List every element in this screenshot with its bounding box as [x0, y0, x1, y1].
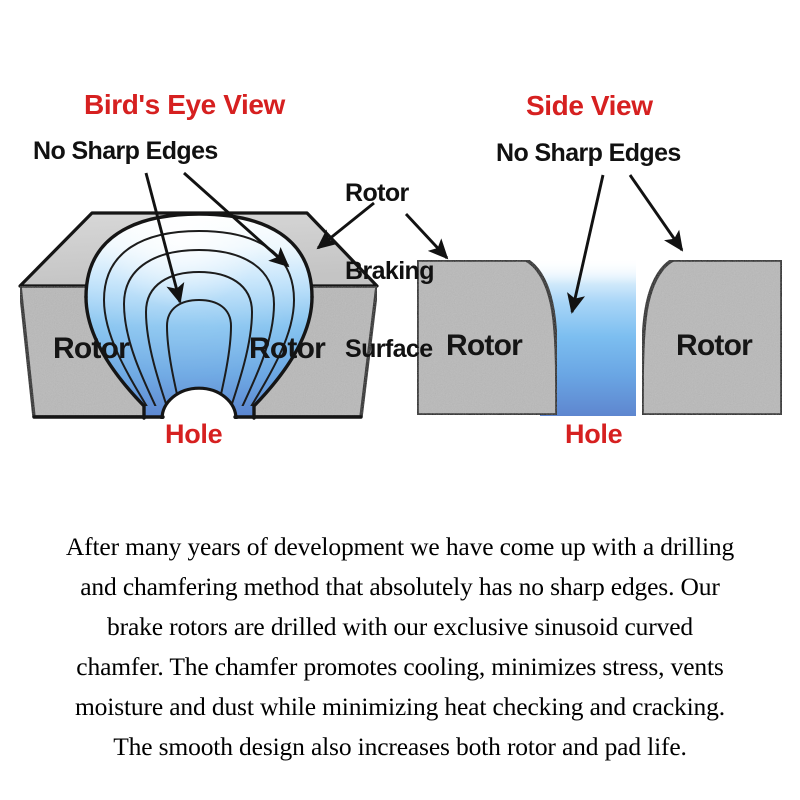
description-line: The smooth design also increases both ro… — [8, 727, 792, 767]
birds-eye-view-title: Bird's Eye View — [84, 90, 285, 119]
birds-eye-hole-label: Hole — [165, 420, 222, 448]
side-view-rotor-label-left: Rotor — [446, 329, 522, 363]
side-view-no-sharp-edges-label: No Sharp Edges — [496, 140, 681, 166]
side-view-title: Side View — [526, 91, 653, 120]
birds-eye-rotor-label-right: Rotor — [249, 332, 325, 366]
birds-eye-rotor-label-left: Rotor — [53, 332, 129, 366]
description-paragraph: After many years of development we have … — [8, 527, 792, 767]
description-line: chamfer. The chamfer promotes cooling, m… — [8, 647, 792, 687]
birds-eye-block — [20, 213, 377, 430]
arrow-no-sharp-edges-right-outer — [630, 175, 682, 250]
rotor-braking-surface-line-2: Braking — [345, 258, 434, 284]
side-view-hole-label: Hole — [565, 420, 622, 448]
description-line: After many years of development we have … — [8, 527, 792, 567]
description-line: brake rotors are drilled with our exclus… — [8, 607, 792, 647]
side-view-rotor-label-right: Rotor — [676, 329, 752, 363]
birds-eye-no-sharp-edges-label: No Sharp Edges — [33, 138, 218, 164]
rotor-braking-surface-line-1: Rotor — [345, 180, 434, 206]
description-line: moisture and dust while minimizing heat … — [8, 687, 792, 727]
description-line: and chamfering method that absolutely ha… — [8, 567, 792, 607]
figure-root: Bird's Eye View No Sharp Edges Rotor Bra… — [0, 0, 800, 800]
rotor-braking-surface-label: Rotor Braking Surface — [345, 128, 434, 414]
rotor-braking-surface-line-3: Surface — [345, 336, 434, 362]
